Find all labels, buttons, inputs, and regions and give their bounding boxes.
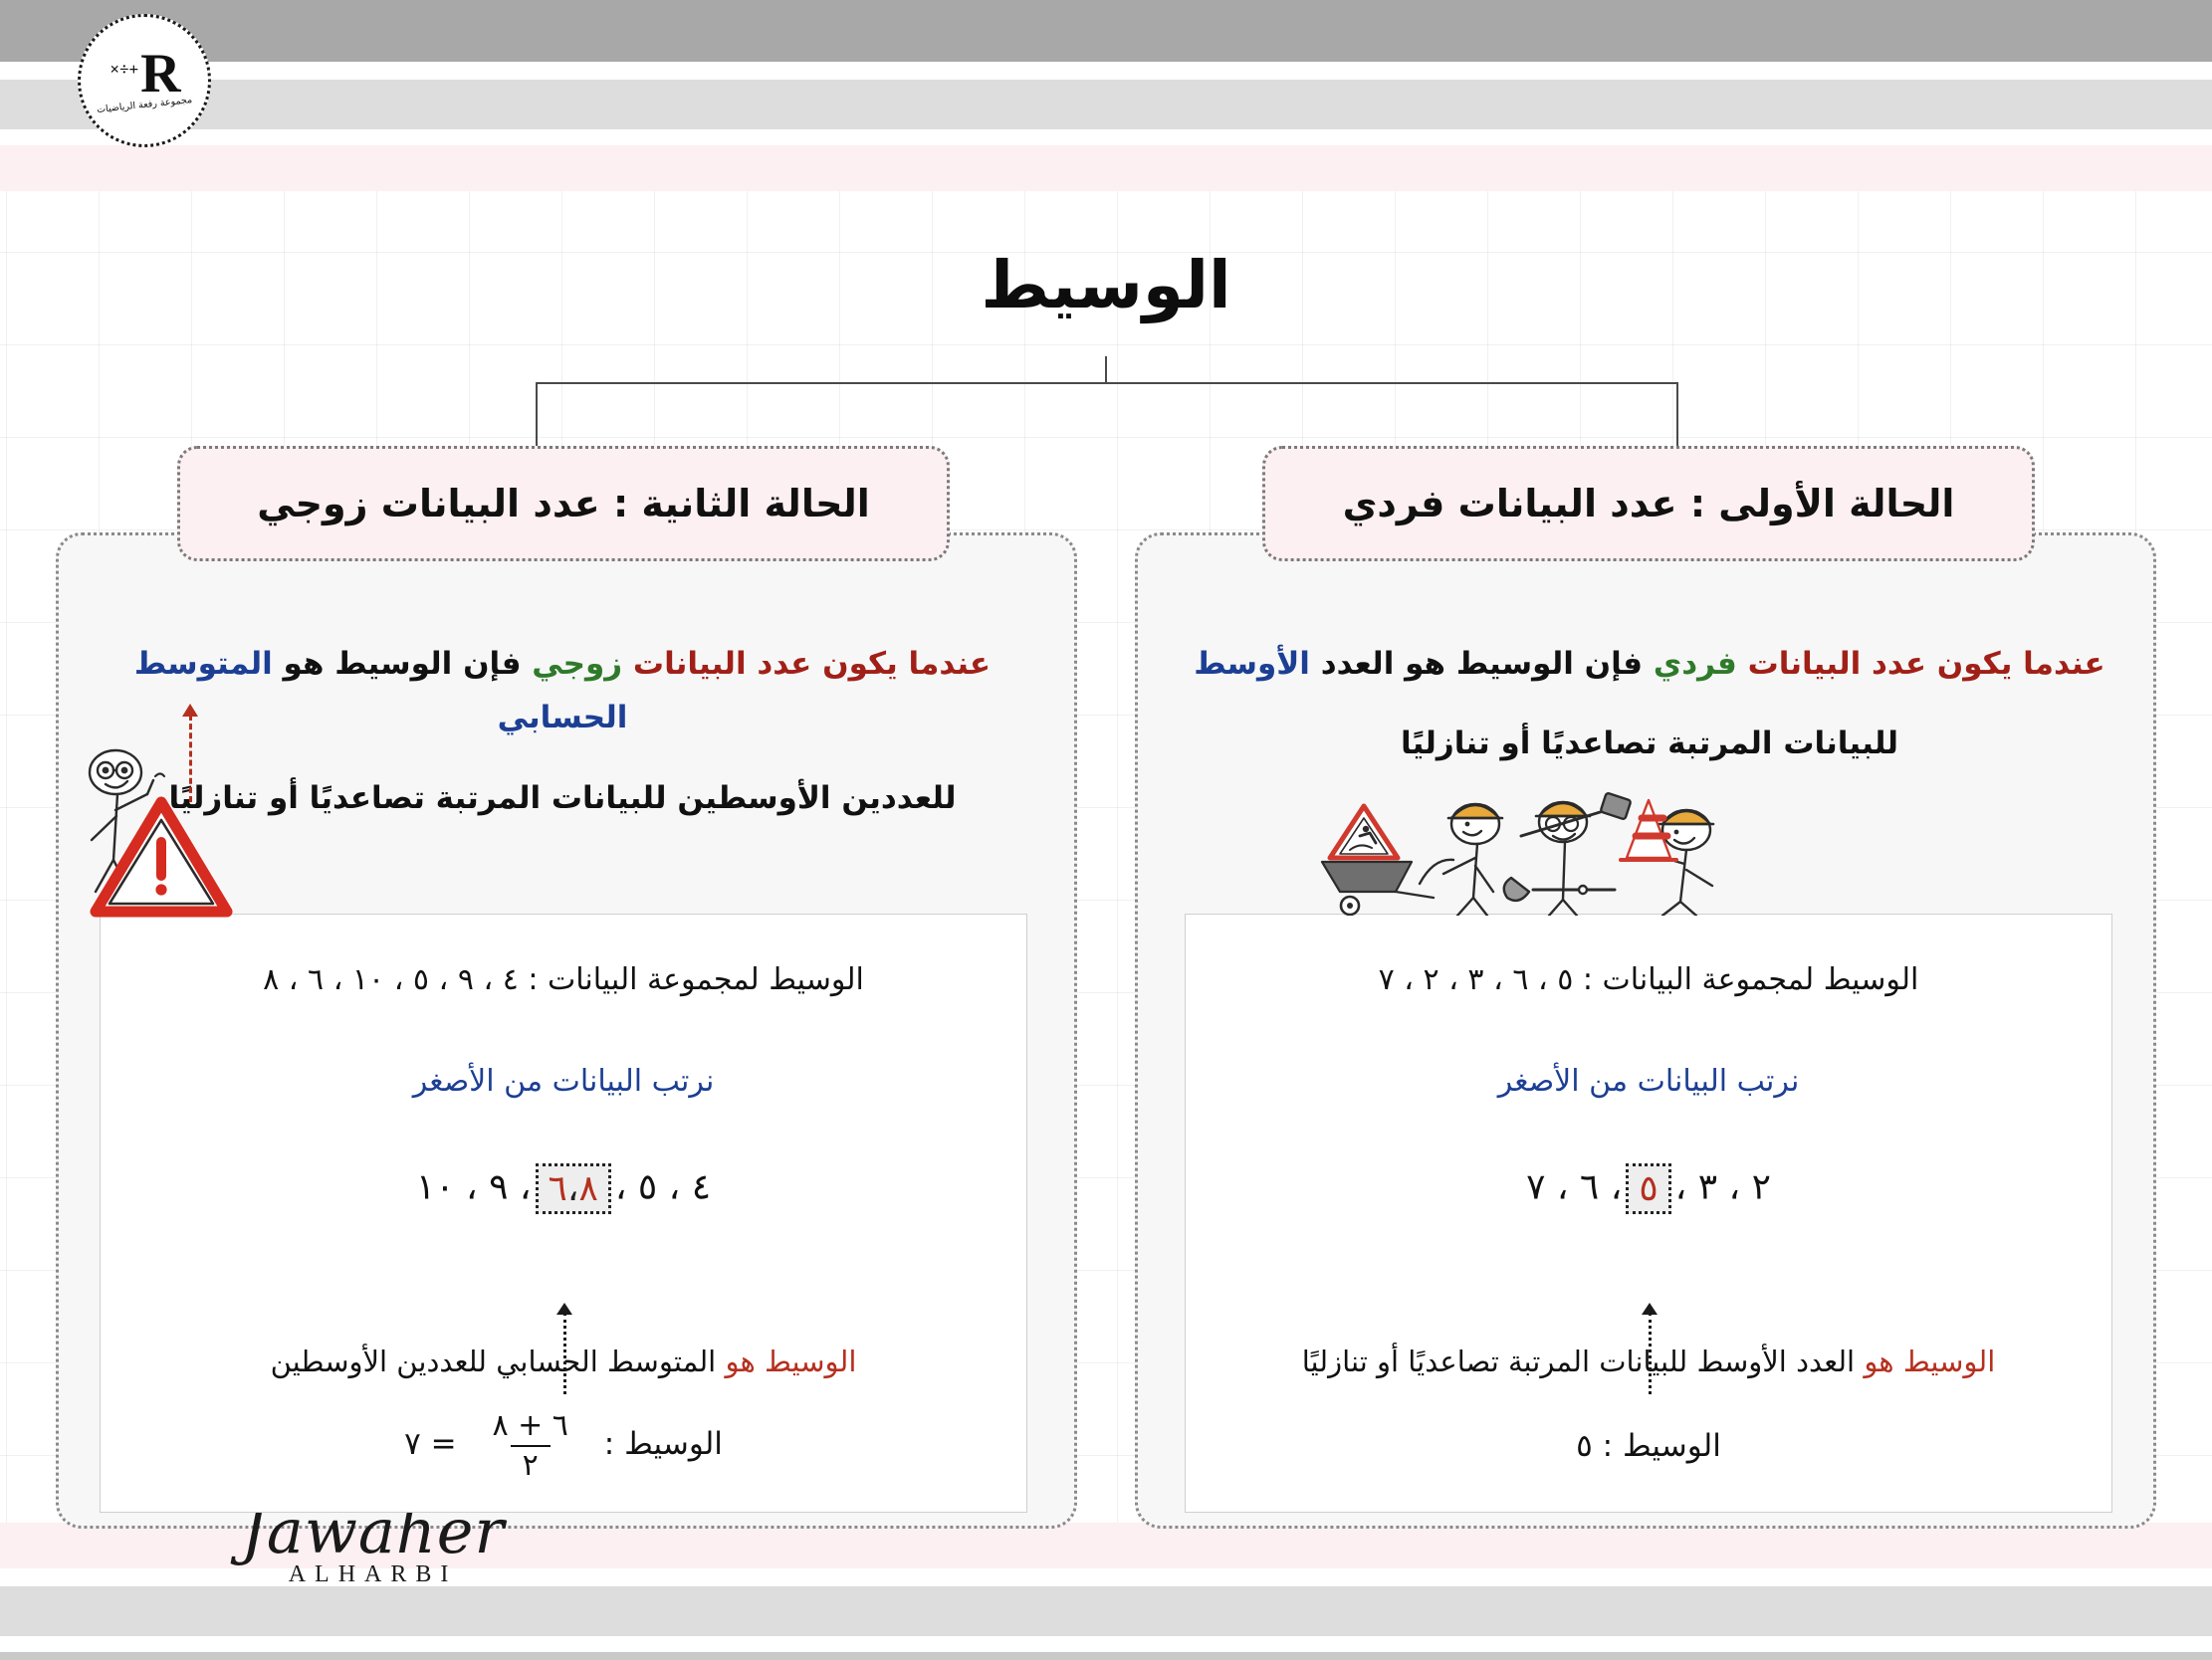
example-even-fraction: ٦ + ٨ ٢: [480, 1410, 579, 1481]
example-even-sorted-before: ٤ ، ٥ ،: [615, 1167, 711, 1208]
logo-letter: R: [140, 51, 178, 99]
example-card-odd: الوسيط لمجموعة البيانات : ٥ ، ٦ ، ٣ ، ٢ …: [1185, 914, 2112, 1513]
example-even-answer-value: ٧: [404, 1426, 421, 1462]
header-band-white-1: [0, 62, 2212, 80]
rule-even-part2: زوجي: [532, 646, 622, 682]
logo-math-symbols-icon: +÷×: [110, 61, 138, 98]
rule-even-part1: عندما يكون عدد البيانات: [633, 646, 991, 682]
case-header-even[interactable]: الحالة الثانية : عدد البيانات زوجي: [177, 446, 950, 561]
case-header-even-label: الحالة الثانية : عدد البيانات زوجي: [257, 482, 870, 525]
page-title: الوسيط: [0, 247, 2212, 323]
example-even-median-separator: ،: [567, 1168, 579, 1209]
rule-text-odd: عندما يكون عدد البيانات فردي فإن الوسيط …: [1187, 637, 2112, 771]
header-band-light-gray: [0, 80, 2212, 129]
example-odd-sorted-row: ٢ ، ٣ ،٥، ٦ ، ٧: [1186, 1163, 2111, 1214]
rule-even-part3: فإن الوسيط هو: [284, 646, 522, 682]
example-odd-sort-label: نرتب البيانات من الأصغر: [1186, 1064, 2111, 1099]
example-even-equals: =: [431, 1426, 457, 1462]
rule-odd-line-1: عندما يكون عدد البيانات فردي فإن الوسيط …: [1187, 637, 2112, 691]
example-odd-conclusion-emph: الوسيط هو: [1864, 1345, 1995, 1378]
footer-signature: Jawaher ALHARBI: [241, 1504, 505, 1588]
example-even-median-a: ٦: [549, 1168, 567, 1209]
header-band-dark-gray: [0, 0, 2212, 62]
example-even-sort-label: نرتب البيانات من الأصغر: [101, 1064, 1026, 1099]
rule-odd-part4: الأوسط: [1194, 646, 1310, 682]
construction-workers-icon: [1316, 766, 1734, 921]
rule-even-part5: للعددين الأوسطين للبيانات المرتبة تصاعدي…: [168, 780, 956, 816]
logo-monogram: R +÷×: [110, 51, 178, 99]
example-even-data-label: الوسيط لمجموعة البيانات : ٤ ، ٩ ، ٥ ، ١٠…: [101, 962, 1026, 997]
example-even-median-highlight: ٦،٨: [536, 1163, 611, 1214]
rule-odd-part2: فردي: [1654, 646, 1737, 682]
example-even-sorted-row: ٤ ، ٥ ،٦،٨، ٩ ، ١٠: [101, 1163, 1026, 1214]
example-odd-conclusion-rest: العدد الأوسط للبيانات المرتبة تصاعديًا أ…: [1302, 1345, 1855, 1378]
footer-band-light-gray: [0, 1586, 2212, 1636]
footer-band-white-2: [0, 1636, 2212, 1652]
rule-even-line-1: عندما يكون عدد البيانات زوجي فإن الوسيط …: [100, 637, 1025, 745]
rule-odd-line-2: للبيانات المرتبة تصاعديًا أو تنازليًا: [1187, 717, 2112, 770]
example-even-denominator: ٢: [511, 1445, 551, 1482]
footer-band-dark-gray: [0, 1652, 2212, 1660]
brand-logo: R +÷× مجموعة رفعة الرياضيات: [78, 14, 211, 147]
header-band-pink: [0, 145, 2212, 191]
rule-odd-part1: عندما يكون عدد البيانات: [1748, 646, 2105, 682]
case-header-odd[interactable]: الحالة الأولى : عدد البيانات فردي: [1262, 446, 2035, 561]
rule-odd-part3: فإن الوسيط هو العدد: [1321, 646, 1643, 682]
example-odd-median-highlight: ٥: [1626, 1163, 1670, 1214]
example-odd-answer: الوسيط : ٥: [1186, 1428, 2111, 1464]
example-even-answer: الوسيط : ٦ + ٨ ٢ = ٧: [101, 1410, 1026, 1481]
example-odd-sorted-after: ، ٦ ، ٧: [1526, 1167, 1622, 1208]
example-odd-data-label: الوسيط لمجموعة البيانات : ٥ ، ٦ ، ٣ ، ٢ …: [1186, 962, 2111, 997]
case-header-odd-label: الحالة الأولى : عدد البيانات فردي: [1343, 482, 1955, 525]
warning-sign-character-icon: [70, 736, 259, 931]
header-band-white-2: [0, 129, 2212, 145]
rule-odd-part5: للبيانات المرتبة تصاعديًا أو تنازليًا: [1401, 726, 1898, 761]
connector-stem: [1105, 356, 1107, 382]
example-even-numerator: ٦ + ٨: [480, 1410, 579, 1445]
example-even-median-b: ٨: [578, 1168, 597, 1209]
example-even-answer-label: الوسيط :: [604, 1426, 723, 1462]
example-even-conclusion-rest: المتوسط الحسابي للعددين الأوسطين: [271, 1345, 717, 1378]
connector-horizontal: [536, 382, 1678, 384]
example-even-conclusion-emph: الوسيط هو: [725, 1345, 856, 1378]
example-even-sorted-after: ، ٩ ، ١٠: [416, 1167, 532, 1208]
example-card-even: الوسيط لمجموعة البيانات : ٤ ، ٩ ، ٥ ، ١٠…: [100, 914, 1027, 1513]
example-odd-sorted-before: ٢ ، ٣ ،: [1675, 1167, 1771, 1208]
